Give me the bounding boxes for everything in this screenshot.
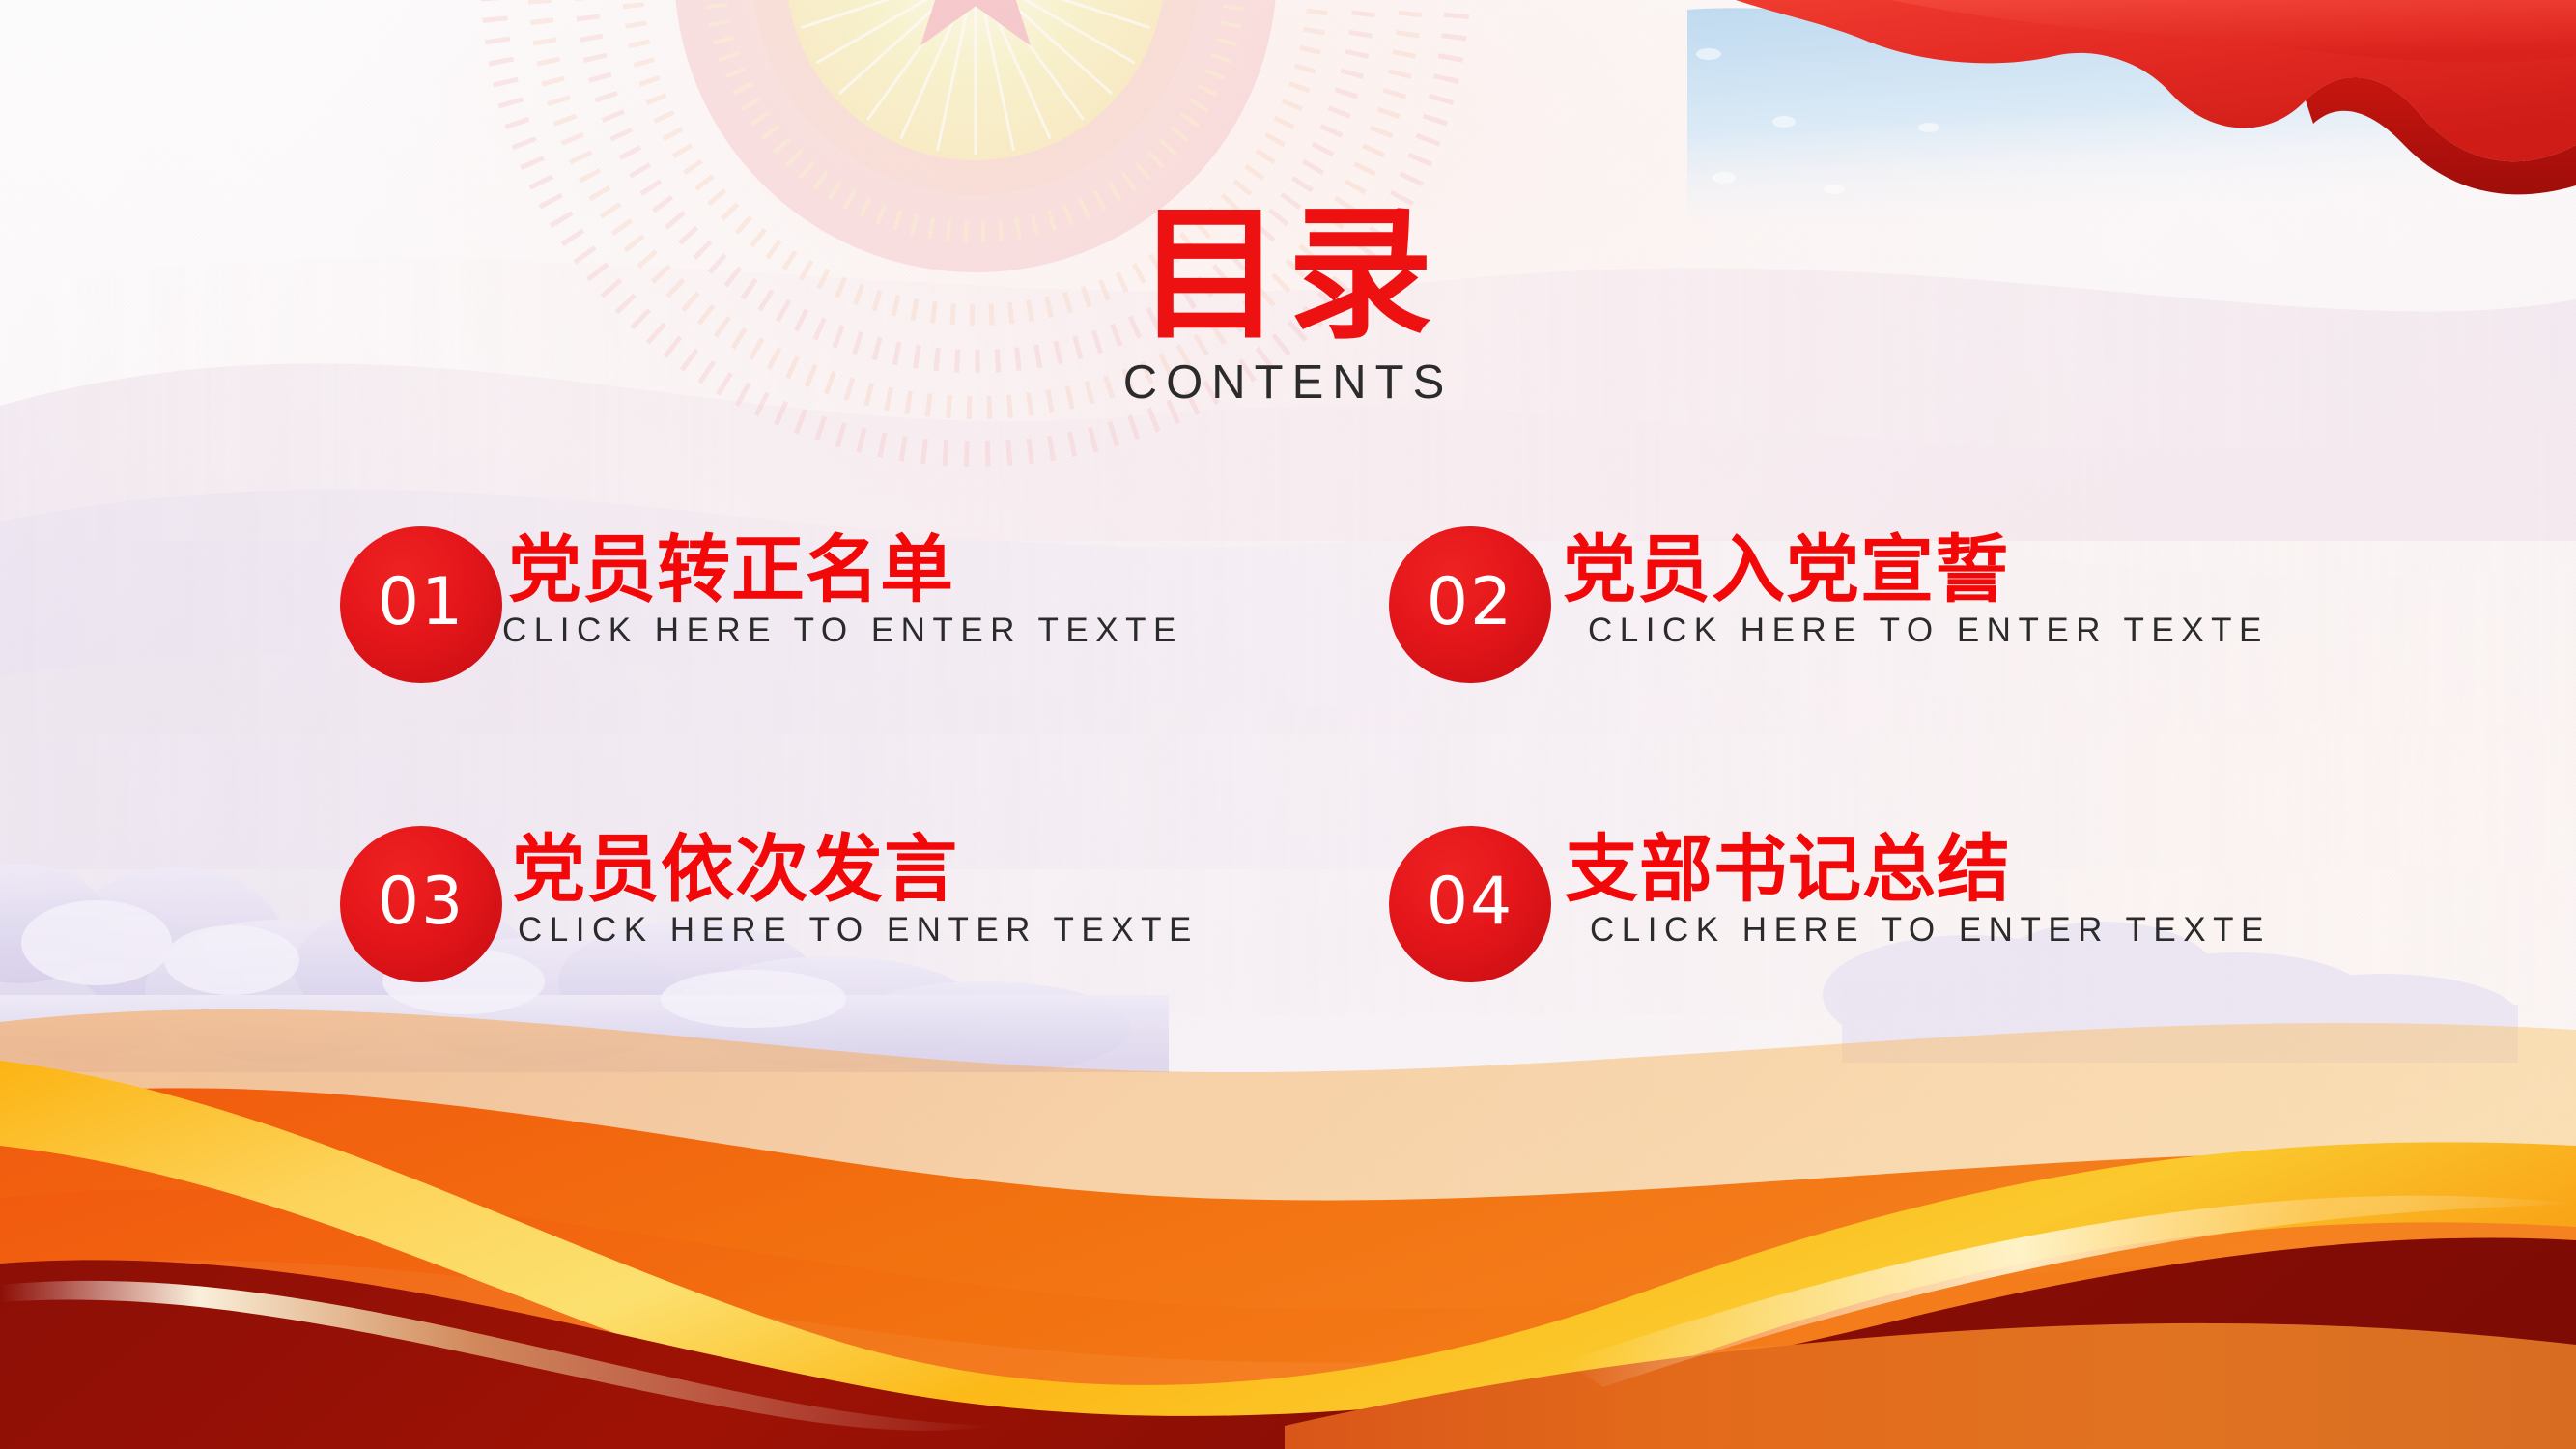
item-number-badge-02: 02 bbox=[1389, 526, 1551, 683]
page-subtitle: CONTENTS bbox=[0, 359, 2576, 407]
contents-grid: 01 党员转正名单 CLICK HERE TO ENTER TEXTE 02 党… bbox=[0, 526, 2576, 1125]
item-title-01: 党员转正名单 bbox=[495, 532, 1183, 608]
contents-item-02[interactable]: 02 党员入党宣誓 CLICK HERE TO ENTER TEXTE bbox=[1389, 526, 2269, 683]
red-flag-icon bbox=[1687, 0, 2576, 222]
item-title-04: 支部书记总结 bbox=[1543, 832, 2271, 907]
contents-item-03[interactable]: 03 党员依次发言 CLICK HERE TO ENTER TEXTE bbox=[340, 826, 1199, 982]
contents-row-1: 01 党员转正名单 CLICK HERE TO ENTER TEXTE 02 党… bbox=[0, 526, 2576, 826]
item-number-badge-01: 01 bbox=[340, 526, 502, 683]
item-text-03: 党员依次发言 CLICK HERE TO ENTER TEXTE bbox=[495, 826, 1199, 947]
contents-item-04[interactable]: 04 支部书记总结 CLICK HERE TO ENTER TEXTE bbox=[1389, 826, 2271, 982]
contents-slide: 目录 CONTENTS 01 党员转正名单 CLICK HERE TO ENTE… bbox=[0, 0, 2576, 1449]
item-text-02: 党员入党宣誓 CLICK HERE TO ENTER TEXTE bbox=[1543, 526, 2269, 647]
item-number-03: 03 bbox=[378, 869, 466, 935]
item-number-02: 02 bbox=[1427, 570, 1514, 636]
page-title: 目录 bbox=[0, 203, 2576, 348]
contents-item-01[interactable]: 01 党员转正名单 CLICK HERE TO ENTER TEXTE bbox=[340, 526, 1183, 683]
contents-row-2: 03 党员依次发言 CLICK HERE TO ENTER TEXTE 04 支… bbox=[0, 826, 2576, 1125]
item-subtitle-03: CLICK HERE TO ENTER TEXTE bbox=[495, 913, 1199, 947]
item-number-01: 01 bbox=[378, 570, 466, 636]
item-subtitle-02: CLICK HERE TO ENTER TEXTE bbox=[1543, 613, 2269, 647]
item-text-01: 党员转正名单 CLICK HERE TO ENTER TEXTE bbox=[495, 526, 1183, 647]
item-subtitle-01: CLICK HERE TO ENTER TEXTE bbox=[495, 613, 1183, 647]
item-number-badge-03: 03 bbox=[340, 826, 502, 982]
item-subtitle-04: CLICK HERE TO ENTER TEXTE bbox=[1543, 913, 2271, 947]
slide-header: 目录 CONTENTS bbox=[0, 203, 2576, 407]
item-number-04: 04 bbox=[1427, 869, 1514, 935]
item-title-02: 党员入党宣誓 bbox=[1543, 532, 2269, 608]
item-text-04: 支部书记总结 CLICK HERE TO ENTER TEXTE bbox=[1543, 826, 2271, 947]
item-number-badge-04: 04 bbox=[1389, 826, 1551, 982]
item-title-03: 党员依次发言 bbox=[495, 832, 1199, 907]
